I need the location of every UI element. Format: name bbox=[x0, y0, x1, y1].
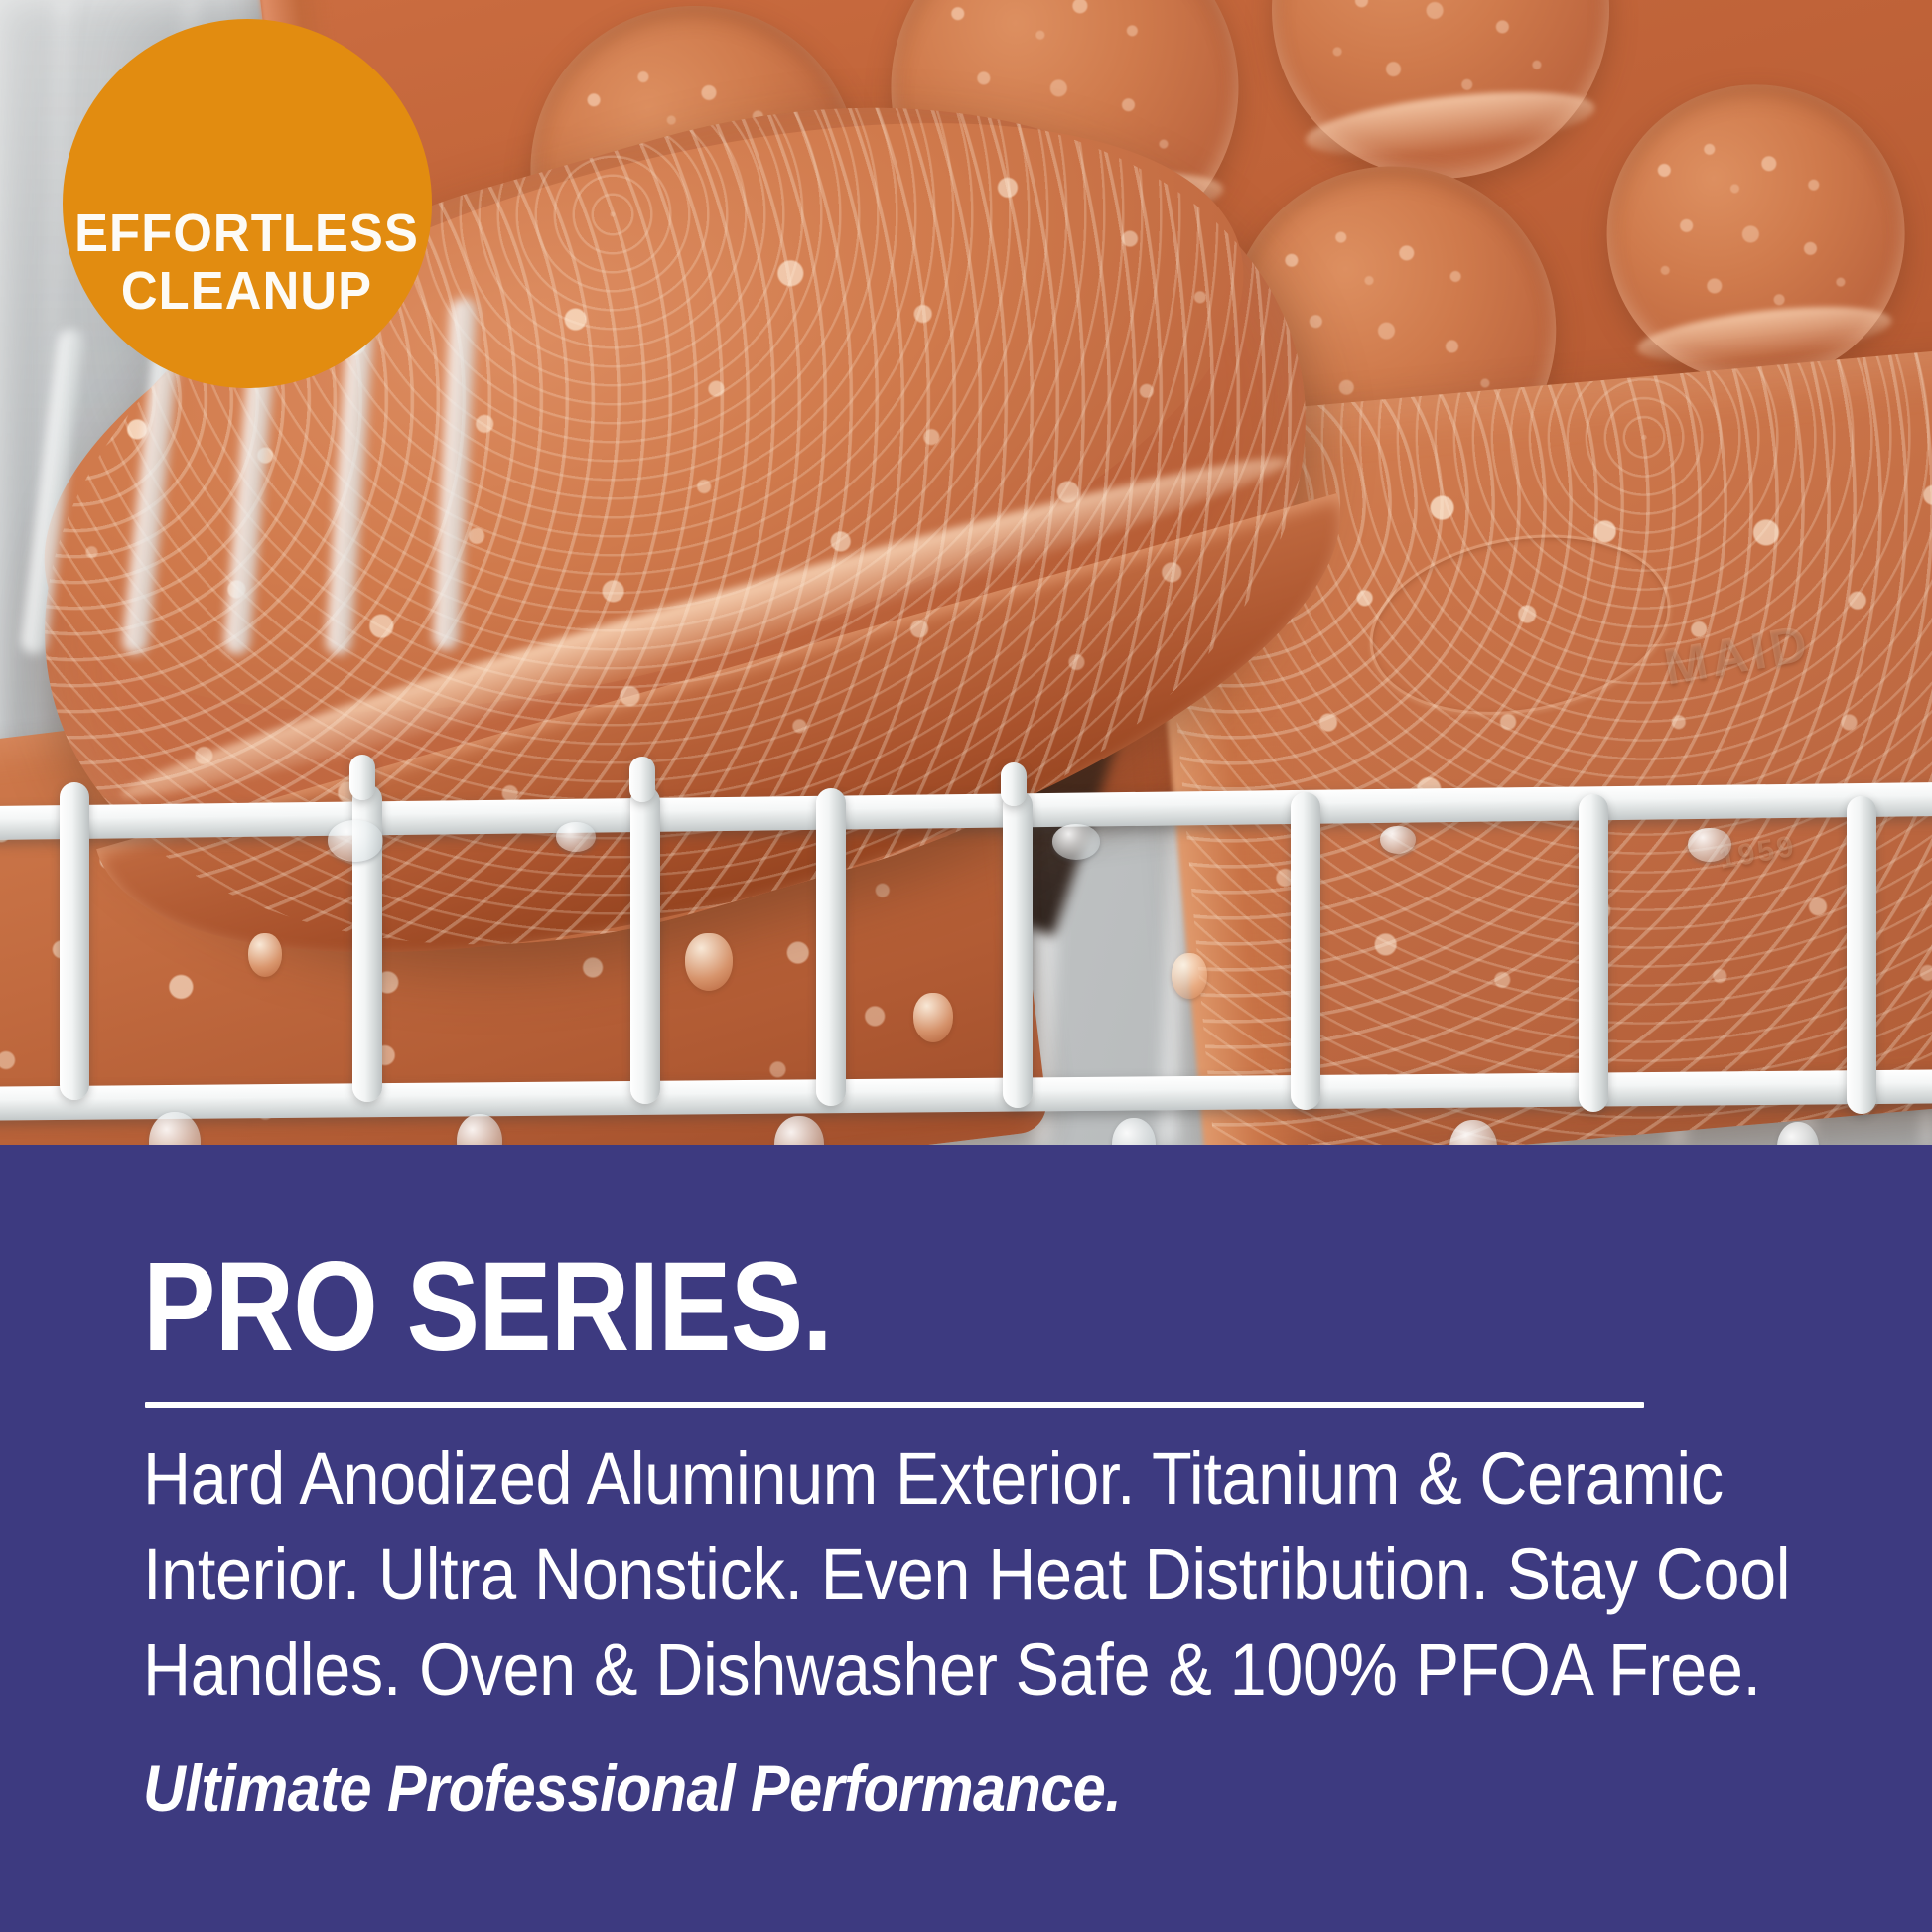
rack-rail-upper bbox=[0, 782, 1932, 841]
rack-tine bbox=[1579, 794, 1608, 1112]
feature-line: Hard Anodized Aluminum Exterior. Titaniu… bbox=[143, 1432, 1680, 1527]
water-droplet bbox=[1172, 953, 1207, 999]
water-droplet bbox=[248, 933, 282, 977]
water-droplet bbox=[685, 933, 733, 991]
badge-line-1: EFFORTLESS bbox=[75, 205, 420, 262]
rack-tine-background bbox=[433, 298, 478, 651]
rack-rail-lower bbox=[0, 1069, 1932, 1121]
water-droplet bbox=[1052, 824, 1100, 860]
product-photo: MAID 1959 bbox=[0, 0, 1932, 1145]
water-droplet bbox=[328, 820, 383, 862]
rack-tine bbox=[1003, 790, 1033, 1108]
feature-line: Interior. Ultra Nonstick. Even Heat Dist… bbox=[143, 1527, 1680, 1622]
rack-nub bbox=[629, 757, 655, 802]
water-droplet bbox=[1449, 1120, 1497, 1145]
badge-text: EFFORTLESS CLEANUP bbox=[75, 205, 420, 321]
feature-line: Handles. Oven & Dishwasher Safe & 100% P… bbox=[143, 1622, 1680, 1718]
rack-tine bbox=[1291, 792, 1320, 1110]
water-droplet bbox=[1380, 826, 1416, 854]
water-droplet bbox=[556, 822, 596, 852]
rack-tine bbox=[630, 786, 660, 1104]
water-droplet bbox=[774, 1116, 824, 1145]
rack-tine-background bbox=[20, 328, 85, 656]
water-droplet bbox=[1112, 1118, 1156, 1145]
badge-line-2: CLEANUP bbox=[75, 262, 420, 320]
product-marketing-image: MAID 1959 bbox=[0, 0, 1932, 1932]
water-droplet bbox=[1777, 1122, 1819, 1145]
effortless-cleanup-badge: EFFORTLESS CLEANUP bbox=[63, 19, 432, 388]
rack-nub bbox=[349, 755, 375, 800]
rack-tine bbox=[60, 782, 89, 1100]
divider bbox=[145, 1402, 1644, 1408]
rack-nub bbox=[1001, 762, 1027, 806]
tagline: Ultimate Professional Performance. bbox=[143, 1755, 1121, 1821]
rack-tine bbox=[1847, 796, 1876, 1114]
water-droplet bbox=[457, 1114, 502, 1145]
water-droplet bbox=[913, 993, 953, 1042]
feature-list: Hard Anodized Aluminum Exterior. Titaniu… bbox=[143, 1432, 1680, 1719]
water-droplet bbox=[1688, 828, 1731, 862]
rack-tine bbox=[816, 788, 846, 1106]
page-title: PRO SERIES. bbox=[143, 1244, 832, 1371]
